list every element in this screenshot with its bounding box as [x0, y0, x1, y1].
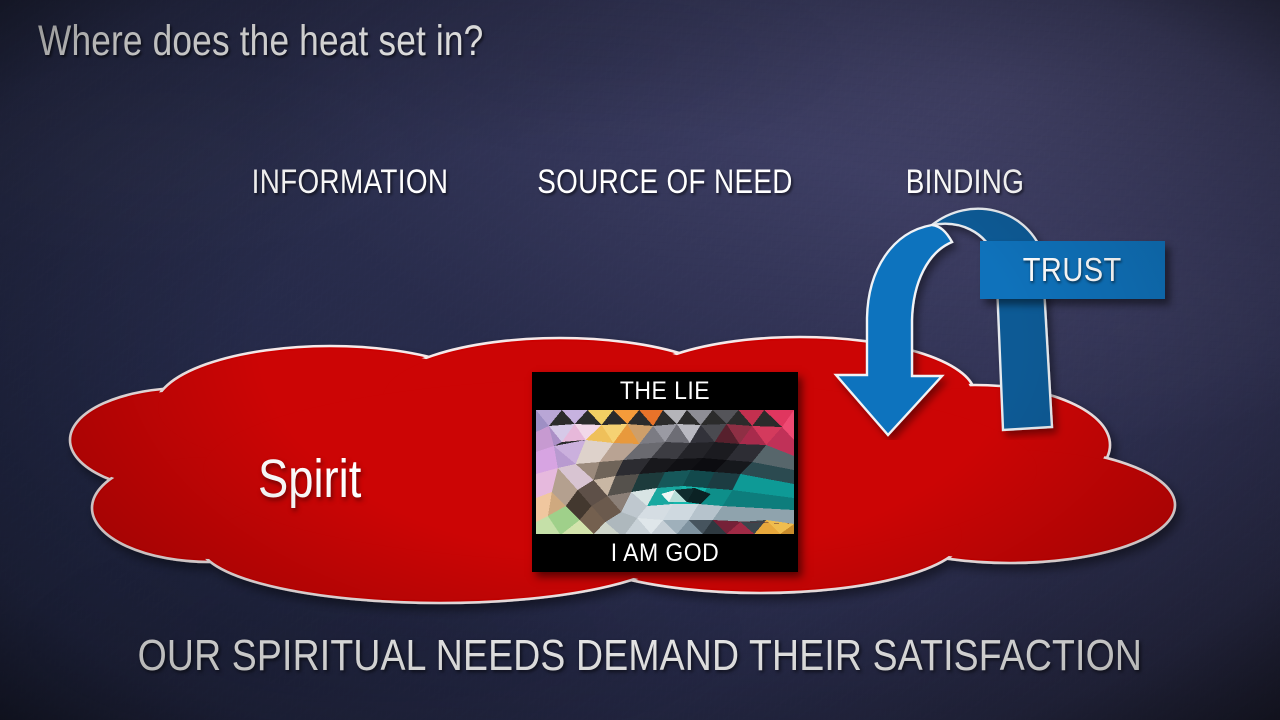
meme-bottom-bar: I AM GOD [532, 534, 798, 572]
low-poly-eye-photo [536, 410, 794, 534]
binding-arrow [820, 190, 1120, 440]
presentation-slide: Where does the heat set in? INFORMATION … [0, 0, 1280, 720]
trust-label-box[interactable]: TRUST [980, 241, 1165, 299]
cloud-label-spirit: Spirit [258, 452, 361, 506]
column-label-source-of-need: SOURCE OF NEED [534, 165, 796, 199]
trust-box-label: TRUST [1023, 251, 1122, 289]
meme-top-text: THE LIE [620, 377, 710, 406]
trust-box-label-wrap: TRUST [980, 241, 1165, 299]
column-label-information: INFORMATION [219, 165, 481, 199]
slide-caption-text: OUR SPIRITUAL NEEDS DEMAND THEIR SATISFA… [138, 634, 1142, 678]
arrow-front-band [836, 225, 952, 435]
meme-bottom-text: I AM GOD [611, 539, 719, 568]
meme-top-bar: THE LIE [532, 372, 798, 410]
slide-title: Where does the heat set in? [38, 20, 483, 63]
the-lie-meme-image: THE LIE [532, 372, 798, 572]
slide-caption: OUR SPIRITUAL NEEDS DEMAND THEIR SATISFA… [0, 634, 1280, 678]
